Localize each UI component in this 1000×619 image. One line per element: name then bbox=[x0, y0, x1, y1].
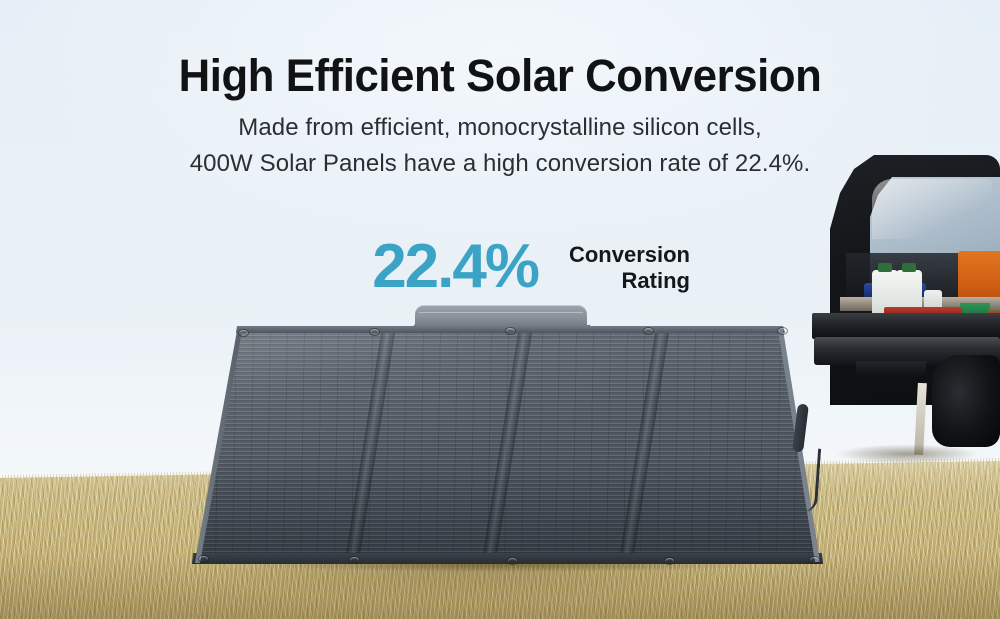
carry-case-seam bbox=[419, 312, 583, 313]
panel-grommet bbox=[644, 328, 653, 334]
subtitle-line-2: 400W Solar Panels have a high conversion… bbox=[0, 150, 1000, 178]
subtitle-line-1: Made from efficient, monocrystalline sil… bbox=[0, 114, 1000, 142]
conversion-label-line-1: Conversion bbox=[540, 242, 690, 268]
panel-ground-shadow bbox=[180, 556, 830, 574]
conversion-stat-block: 22.4% Conversion Rating bbox=[300, 238, 690, 310]
conversion-rate-value: 22.4% bbox=[372, 236, 538, 298]
panel-grommet bbox=[239, 330, 248, 336]
page-title: High Efficient Solar Conversion bbox=[15, 50, 985, 102]
conversion-rate-label: Conversion Rating bbox=[540, 242, 690, 294]
conversion-label-line-2: Rating bbox=[540, 268, 690, 294]
panel-grommet bbox=[370, 329, 379, 335]
panel-cable bbox=[798, 447, 821, 512]
product-hero-banner: High Efficient Solar Conversion Made fro… bbox=[0, 0, 1000, 619]
panel-grommet bbox=[778, 328, 787, 334]
solar-panel-surface bbox=[185, 327, 825, 567]
panel-glare bbox=[185, 327, 825, 567]
panel-top-border bbox=[185, 326, 825, 333]
panel-grommet bbox=[506, 328, 515, 334]
